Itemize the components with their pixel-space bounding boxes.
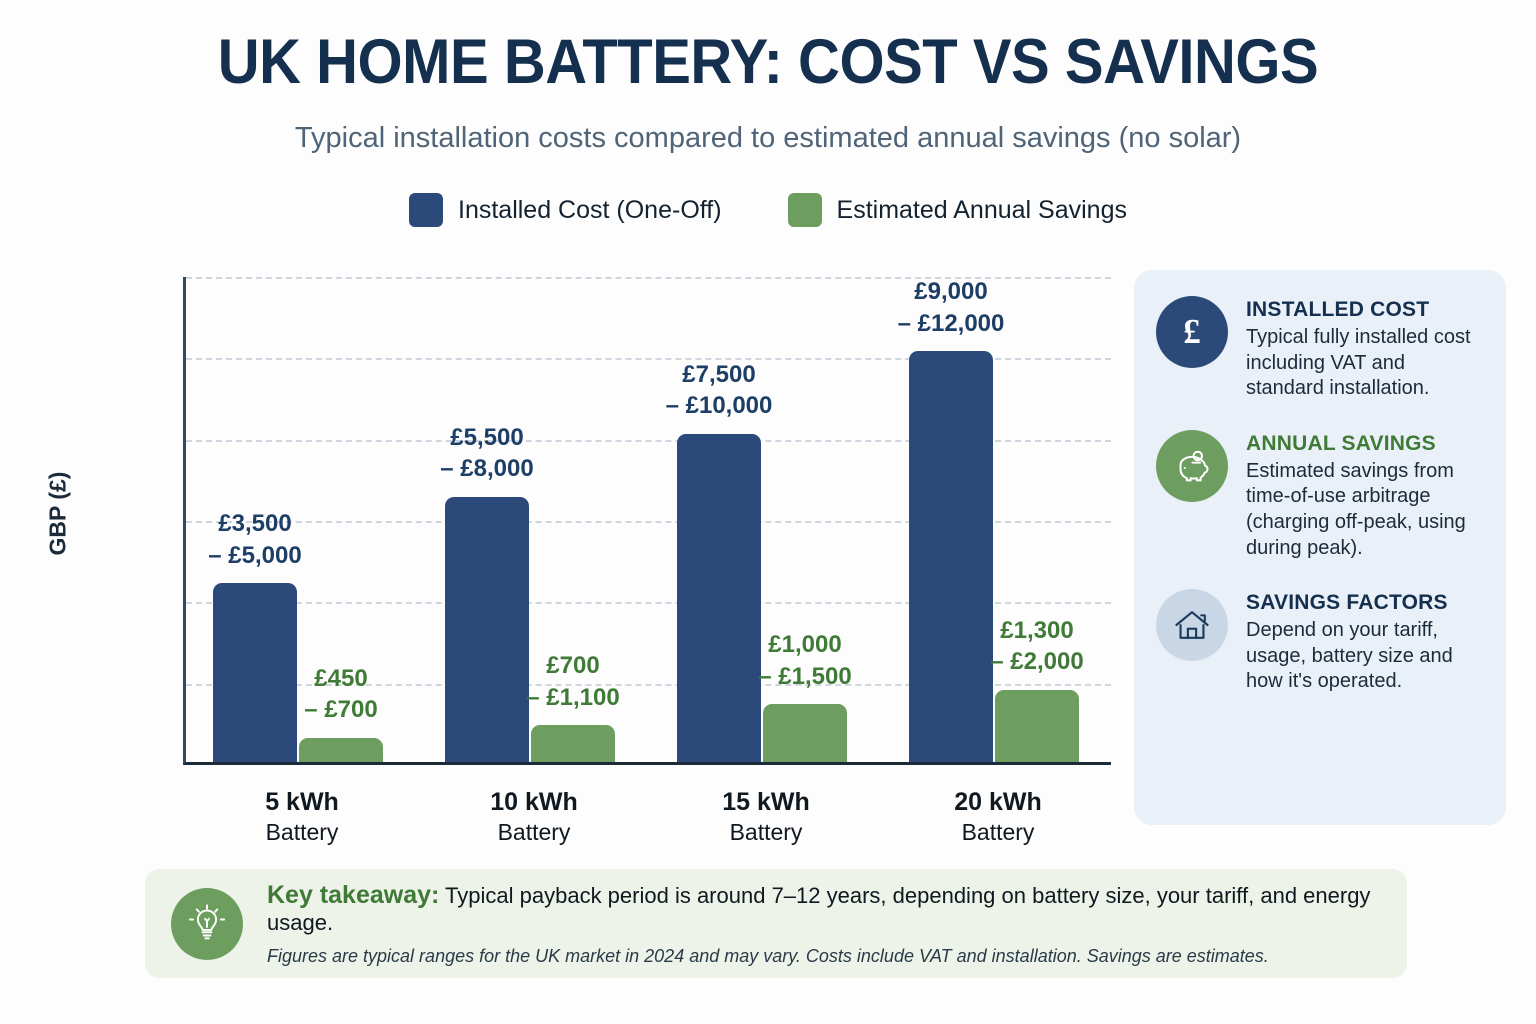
- x-axis-category-label: 5 kWhBattery: [202, 787, 402, 846]
- key-takeaway-banner: Key takeaway: Typical payback period is …: [145, 869, 1407, 978]
- category-name: 20 kWh: [898, 787, 1098, 818]
- bar-label-annual-savings: £1,300 – £2,000: [927, 615, 1147, 678]
- side-item-savings-factors: Savings Factors Depend on your tariff, u…: [1156, 589, 1484, 695]
- y-axis-title: GBP (£): [45, 434, 72, 594]
- bar-installed-cost[interactable]: [677, 434, 761, 762]
- legend-swatch-installed-cost: [409, 193, 443, 227]
- bar-label-installed-cost: £9,000 – £12,000: [841, 276, 1061, 339]
- bar-annual-savings[interactable]: [531, 725, 615, 762]
- side-heading-installed-cost: Installed Cost: [1246, 298, 1484, 322]
- category-sublabel: Battery: [434, 818, 634, 846]
- legend-swatch-annual-savings: [788, 193, 822, 227]
- category-sublabel: Battery: [898, 818, 1098, 846]
- bar-label-installed-cost: £3,500 – £5,000: [145, 508, 365, 571]
- x-axis-category-label: 20 kWhBattery: [898, 787, 1098, 846]
- page-title: UK Home Battery: Cost vs Savings: [61, 26, 1474, 98]
- side-info-panel: £ Installed Cost Typical fully installed…: [1134, 270, 1506, 825]
- side-heading-savings-factors: Savings Factors: [1246, 591, 1484, 615]
- side-body-savings-factors: Depend on your tariff, usage, battery si…: [1246, 618, 1484, 695]
- side-item-annual-savings: Annual Savings Estimated savings from ti…: [1156, 430, 1484, 561]
- category-name: 5 kWh: [202, 787, 402, 818]
- pound-icon: £: [1156, 296, 1228, 368]
- bar-annual-savings[interactable]: [299, 738, 383, 762]
- takeaway-label: Key takeaway:: [267, 881, 439, 909]
- x-axis-category-label: 15 kWhBattery: [666, 787, 866, 846]
- bar-annual-savings[interactable]: [763, 704, 847, 762]
- bar-chart: GBP (£) £0£2,000£4,000£6,000£8,000£10,00…: [0, 250, 1120, 850]
- category-sublabel: Battery: [202, 818, 402, 846]
- legend-item-annual-savings: Estimated Annual Savings: [788, 193, 1127, 227]
- lightbulb-icon: [171, 888, 243, 960]
- chart-plot-area: £0£2,000£4,000£6,000£8,000£10,000£12,000…: [183, 277, 1111, 765]
- infographic-root: UK Home Battery: Cost vs Savings Typical…: [0, 0, 1536, 1024]
- page-subtitle: Typical installation costs compared to e…: [0, 122, 1536, 155]
- bar-label-installed-cost: £5,500 – £8,000: [377, 422, 597, 485]
- legend-label-installed-cost: Installed Cost (One-Off): [458, 196, 722, 225]
- bar-installed-cost[interactable]: [445, 497, 529, 762]
- x-axis-category-label: 10 kWhBattery: [434, 787, 634, 846]
- takeaway-line: Key takeaway: Typical payback period is …: [267, 880, 1381, 936]
- side-body-installed-cost: Typical fully installed cost including V…: [1246, 325, 1484, 402]
- svg-text:£: £: [1183, 312, 1200, 351]
- side-item-installed-cost: £ Installed Cost Typical fully installed…: [1156, 296, 1484, 402]
- bar-annual-savings[interactable]: [995, 690, 1079, 762]
- bar-installed-cost[interactable]: [909, 351, 993, 762]
- bar-label-installed-cost: £7,500 – £10,000: [609, 359, 829, 422]
- bar-label-annual-savings: £450 – £700: [231, 663, 451, 726]
- takeaway-footnote: Figures are typical ranges for the UK ma…: [267, 946, 1381, 967]
- house-icon: [1156, 589, 1228, 661]
- legend-item-installed-cost: Installed Cost (One-Off): [409, 193, 722, 227]
- category-name: 15 kWh: [666, 787, 866, 818]
- chart-legend: Installed Cost (One-Off) Estimated Annua…: [0, 193, 1536, 227]
- category-name: 10 kWh: [434, 787, 634, 818]
- side-body-annual-savings: Estimated savings from time-of-use arbit…: [1246, 459, 1484, 561]
- bar-label-annual-savings: £1,000 – £1,500: [695, 629, 915, 692]
- piggy-bank-icon: [1156, 430, 1228, 502]
- side-heading-annual-savings: Annual Savings: [1246, 432, 1484, 456]
- bar-label-annual-savings: £700 – £1,100: [463, 650, 683, 713]
- legend-label-annual-savings: Estimated Annual Savings: [837, 196, 1127, 225]
- category-sublabel: Battery: [666, 818, 866, 846]
